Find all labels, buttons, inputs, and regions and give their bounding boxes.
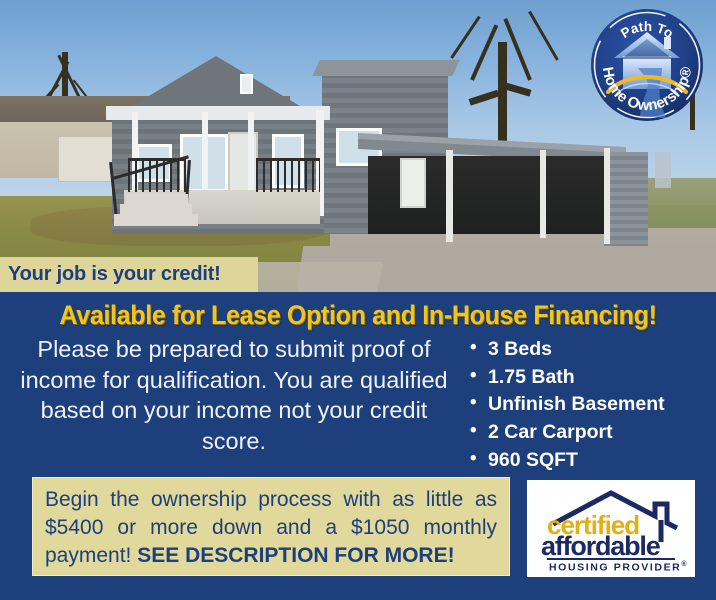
- logo-tagline: HOUSING PROVIDER®: [549, 561, 688, 573]
- carport-post: [604, 148, 610, 244]
- credit-banner-text: Your job is your credit!: [0, 263, 221, 286]
- logo-tagline-text: HOUSING PROVIDER: [549, 562, 681, 574]
- path-to-home-ownership-badge: Path To Home Ownership®: [588, 6, 706, 124]
- list-item: 2 Car Carport: [466, 419, 716, 447]
- carport-end-wall: [604, 152, 648, 246]
- credit-banner: Your job is your credit!: [0, 257, 258, 292]
- property-flyer: Path To Home Ownership® Your job is your…: [0, 0, 716, 600]
- porch-railing: [256, 160, 320, 192]
- qualification-paragraph: Please be prepared to submit proof of in…: [8, 334, 460, 456]
- offer-text: Begin the ownership process with as litt…: [45, 486, 497, 570]
- list-item: 1.75 Bath: [466, 364, 716, 392]
- logo-divider: [547, 558, 675, 560]
- property-photo: Path To Home Ownership® Your job is your…: [0, 0, 716, 292]
- porch-steps: [120, 204, 192, 214]
- headline: Available for Lease Option and In-House …: [25, 300, 691, 331]
- offer-box: Begin the ownership process with as litt…: [32, 477, 510, 576]
- carport-post: [446, 150, 453, 242]
- porch-steps: [126, 194, 188, 204]
- house-right-roof: [312, 60, 459, 76]
- porch-roof: [106, 106, 330, 120]
- porch-steps: [114, 214, 198, 226]
- certified-affordable-logo: certified affordable HOUSING PROVIDER®: [527, 480, 695, 577]
- list-item: Unfinish Basement: [466, 391, 716, 419]
- list-item: 960 SQFT: [466, 447, 716, 475]
- water-tower: [655, 152, 671, 188]
- porch-column: [202, 112, 208, 196]
- porch-column: [248, 112, 254, 196]
- logo-word-affordable: affordable: [541, 533, 660, 560]
- logo-registered-mark: ®: [681, 561, 688, 568]
- badge-svg: Path To Home Ownership®: [588, 6, 706, 124]
- list-item: 3 Beds: [466, 336, 716, 364]
- gable-vent: [240, 74, 253, 94]
- offer-emphasis: SEE DESCRIPTION FOR MORE!: [137, 544, 454, 567]
- carport-side-door: [400, 158, 426, 208]
- feature-list: 3 Beds 1.75 Bath Unfinish Basement 2 Car…: [466, 336, 716, 474]
- carport-post: [540, 150, 546, 238]
